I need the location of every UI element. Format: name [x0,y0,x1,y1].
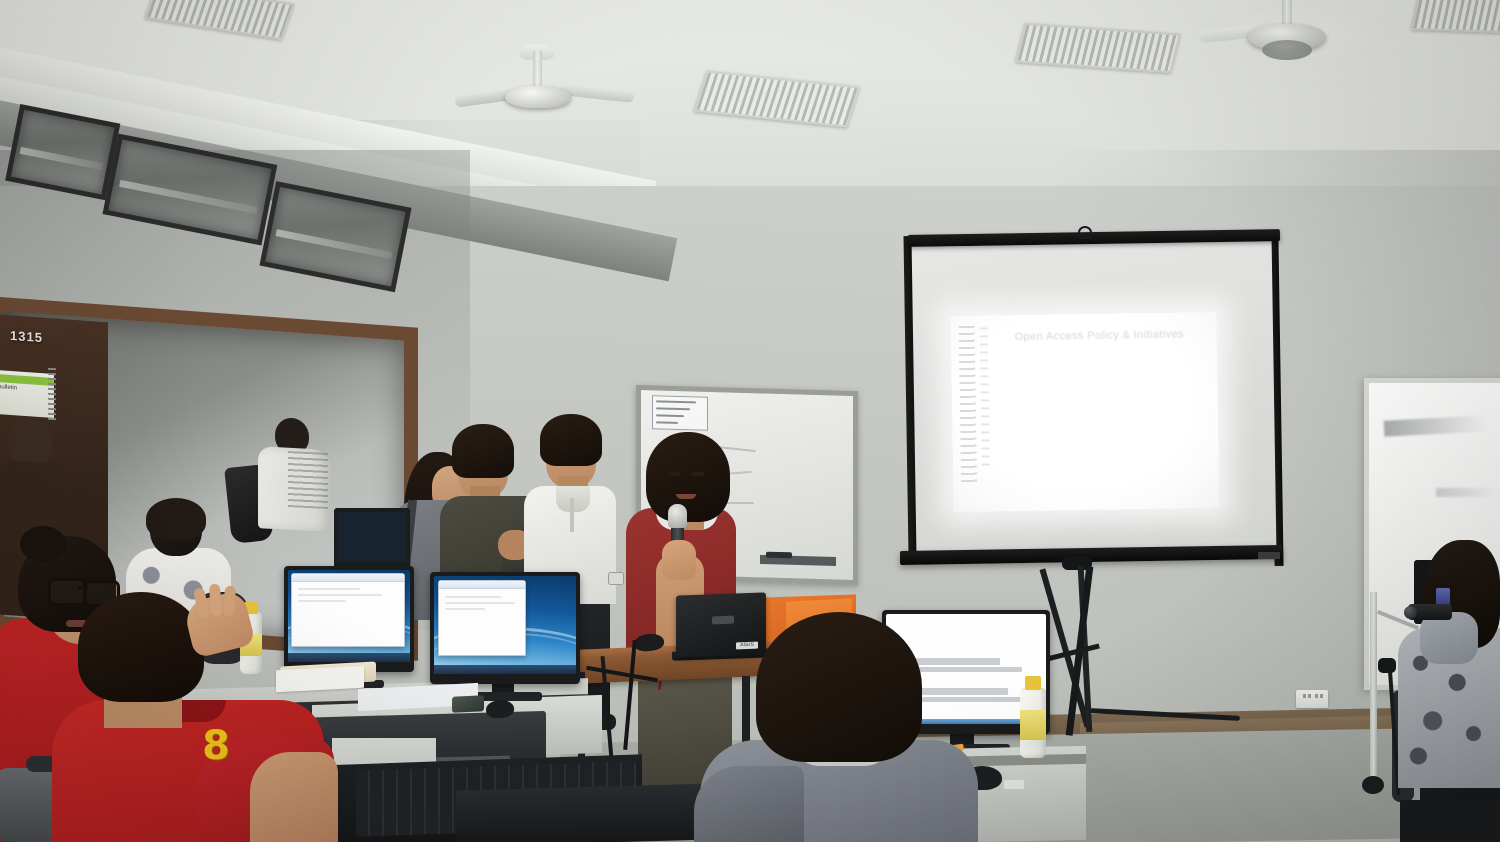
jersey-number: 8 [196,724,236,768]
striped-shirt-pattern [288,451,328,509]
bottle-label [1020,710,1046,740]
transom-window [102,134,277,246]
camera-lens-icon [1404,606,1417,619]
standing-man-olive-hair [452,424,514,478]
outlet-slot [1315,694,1318,698]
ceiling-fan-light [1262,40,1312,60]
poster-text: bulletin [0,384,17,391]
spiral-binding [48,368,56,421]
foreground-man-hair [78,592,204,702]
outlet-slot [1303,694,1306,698]
laptop-brand-label: ASUS [736,642,758,650]
background-monitor-screen [338,512,406,562]
whiteboard-scribble [656,414,684,417]
standing-man-white-hair [540,414,602,466]
laptop-logo [712,616,734,625]
window-title-bar[interactable] [292,574,404,582]
whiteboard-scribble [656,421,678,424]
door-poster: bulletin [0,370,54,418]
document-row [904,658,1000,665]
window-title-bar[interactable] [439,581,525,589]
slide-sidebar-lines [980,327,990,468]
presenter-hand [662,540,696,580]
finger [223,586,236,617]
taskbar[interactable] [288,653,410,662]
content-line [445,608,485,610]
monitor-screen[interactable] [288,570,410,662]
eyeglasses-bridge [78,586,88,589]
usb-drive [1004,780,1024,789]
whiteboard-note-block [652,395,708,431]
lab-monitor-1[interactable] [284,566,414,672]
seated-person-floral-hair [146,498,206,540]
front-attendee-shoulder [694,766,804,842]
glass-glint [276,229,393,259]
outlet-slot [1320,694,1323,698]
front-attendee-hair [756,612,922,762]
presenter-mouth [676,494,696,499]
papers [276,666,364,693]
outlet-slot [1308,694,1311,698]
presenter-eye [668,472,680,476]
content-line [298,594,382,596]
screen-pull-tab[interactable] [1258,552,1280,559]
whiteboard-stand-leg [1370,592,1377,782]
content-line [445,602,515,604]
room-number-label: 1315 [10,328,70,352]
document-row [904,667,1022,672]
monitor-screen[interactable] [434,576,576,674]
transom-window [259,181,411,292]
content-line [298,600,346,602]
taskbar[interactable] [434,665,576,674]
application-window[interactable] [438,580,526,656]
slide-sidebar-lines [959,326,977,483]
whiteboard-scribble [656,400,696,403]
classroom-photo-scene: bulletin 1315 Open Access Policy & Initi… [0,0,1500,842]
finger [209,584,222,617]
content-line [298,588,360,590]
microphone-icon[interactable] [668,504,687,528]
ac-vent-icon [1411,0,1500,34]
whiteboard-scribble [656,407,690,410]
polo-placket [570,498,574,532]
whiteboard-smudge [1436,488,1498,497]
ceiling-fan-icon [505,86,571,108]
screen-hook-icon [1078,226,1092,239]
whiteboard-caster-wheel [1362,776,1384,794]
foreground-man-arm [250,752,338,842]
hair-bun [20,526,66,562]
document-row [904,697,1026,702]
chair-base [1400,800,1500,842]
eyeglasses-lens [48,578,86,606]
power-outlet[interactable] [1296,690,1328,708]
application-window[interactable] [291,573,405,647]
bottle-cap [1025,676,1041,690]
glass-glint [19,147,103,170]
projected-slide: Open Access Policy & Initiatives [950,312,1219,512]
power-adapter [1378,658,1396,673]
presenter-eye [692,472,704,476]
wristwatch [608,572,624,585]
content-line [445,596,501,598]
glass-glint [119,179,258,213]
lab-monitor-2[interactable] [430,572,580,684]
slide-title-text: Open Access Policy & Initiatives [1015,328,1201,343]
mobile-phone[interactable] [452,695,484,713]
whiteboard-marker [766,552,792,559]
presenter-hair [646,432,730,522]
